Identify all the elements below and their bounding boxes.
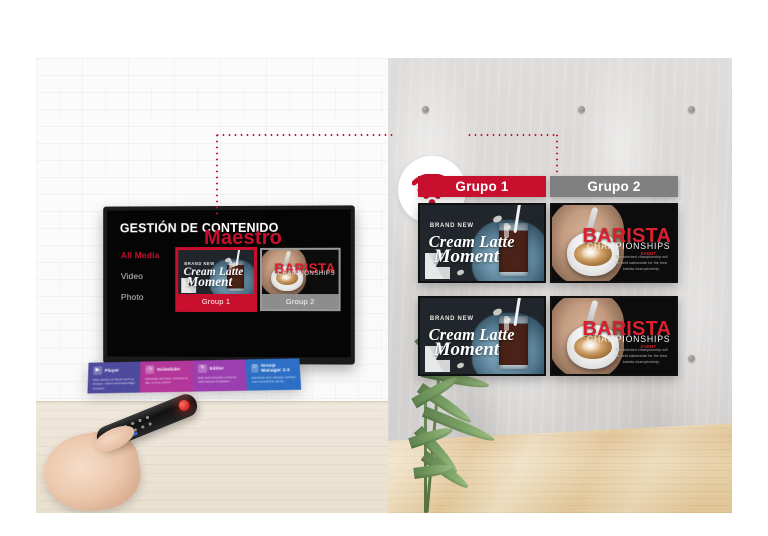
creative-barista-body: The selected championship will be held n… <box>613 348 670 365</box>
scheduler-icon: ◷ <box>145 365 154 374</box>
creative-brand-text: BRAND NEW <box>184 261 214 266</box>
group-1-label: Grupo 1 <box>418 176 546 197</box>
menu-item-photo[interactable]: Photo <box>121 292 160 302</box>
creative-brand-text: BRAND NEW <box>430 223 474 229</box>
card-group-manager[interactable]: ⚇ Group Manager 2.0 Distribute and manag… <box>246 358 302 390</box>
composite-photo: GESTIÓN DE CONTENIDO All Media Video Pho… <box>36 58 732 513</box>
creative-brand-text: BRAND NEW <box>430 316 474 322</box>
wall-bolt-icon <box>578 106 585 113</box>
display-panel-1[interactable]: BRAND NEW Cream Latte Moment <box>418 203 546 283</box>
content-menu[interactable]: All Media Video Photo <box>121 250 160 313</box>
card-editor[interactable]: ✎ Editor Edit and compose contents with … <box>193 359 247 391</box>
creative-barista-subtitle: CHAMPIONSHIPS <box>278 271 336 277</box>
creative-barista-subtitle: CHAMPIONSHIPS <box>587 334 671 344</box>
creative-headline-2: Moment <box>434 246 499 268</box>
connector-line-right-horizontal <box>468 134 558 136</box>
card-description: Distribute and manage settings and conte… <box>251 375 296 385</box>
card-description: Play various contents such as images, vi… <box>93 377 137 391</box>
thumbnail-caption: Group 2 <box>262 294 339 309</box>
connector-line-left-vertical <box>216 134 218 216</box>
editor-icon: ✎ <box>198 364 207 373</box>
thumbnail-group-1[interactable]: BRAND NEW Cream Latte Moment Group 1 <box>178 250 254 309</box>
card-title: Scheduler <box>157 367 180 372</box>
display-panel-3[interactable]: BRAND NEW Cream Latte Moment <box>418 296 546 376</box>
card-title: Editor <box>210 366 224 371</box>
card-player[interactable]: ▶ Player Play various contents such as i… <box>87 362 140 394</box>
hand-holding-remote <box>44 403 229 513</box>
thumbnail-group-2[interactable]: BARISTA CHAMPIONSHIPS Group 2 <box>262 250 339 309</box>
creative-headline-2: Moment <box>187 274 233 290</box>
scene-root: GESTIÓN DE CONTENIDO All Media Video Pho… <box>0 0 768 536</box>
card-title: Player <box>105 368 120 373</box>
power-button-icon[interactable] <box>177 398 191 412</box>
group-2-label: Grupo 2 <box>550 176 678 197</box>
card-description: Schedule and play contents by day or tim… <box>145 376 189 386</box>
maestro-label: Maestro <box>204 227 282 250</box>
thumbnail-artwork: BARISTA CHAMPIONSHIPS <box>262 250 339 294</box>
menu-item-all-media[interactable]: All Media <box>121 250 160 260</box>
wall-bolt-icon <box>422 106 429 113</box>
creative-barista-body: The selected championship will be held n… <box>613 255 670 272</box>
group-manager-icon: ⚇ <box>251 364 259 373</box>
wall-bolt-icon <box>688 355 695 362</box>
display-panel-2[interactable]: BARISTA CHAMPIONSHIPS EVENT The selected… <box>550 203 678 283</box>
card-title: Group Manager 2.0 <box>261 362 296 372</box>
creative-barista-subtitle: CHAMPIONSHIPS <box>587 241 671 251</box>
connector-line-left-horizontal <box>216 134 396 136</box>
creative-headline-2: Moment <box>434 339 499 361</box>
thumbnail-artwork: BRAND NEW Cream Latte Moment <box>178 250 254 294</box>
thumbnail-grid[interactable]: BRAND NEW Cream Latte Moment Group 1 <box>178 250 338 309</box>
menu-item-video[interactable]: Video <box>121 271 160 281</box>
wall-bolt-icon <box>688 106 695 113</box>
right-room-scene <box>388 58 732 513</box>
player-icon: ▶ <box>93 366 102 375</box>
feature-cards-strip[interactable]: ▶ Player Play various contents such as i… <box>87 358 301 393</box>
display-panel-4[interactable]: BARISTA CHAMPIONSHIPS EVENT The selected… <box>550 296 678 376</box>
card-description: Edit and compose contents with various t… <box>198 375 242 385</box>
thumbnail-caption: Group 1 <box>178 294 254 309</box>
card-scheduler[interactable]: ◷ Scheduler Schedule and play contents b… <box>140 361 193 393</box>
